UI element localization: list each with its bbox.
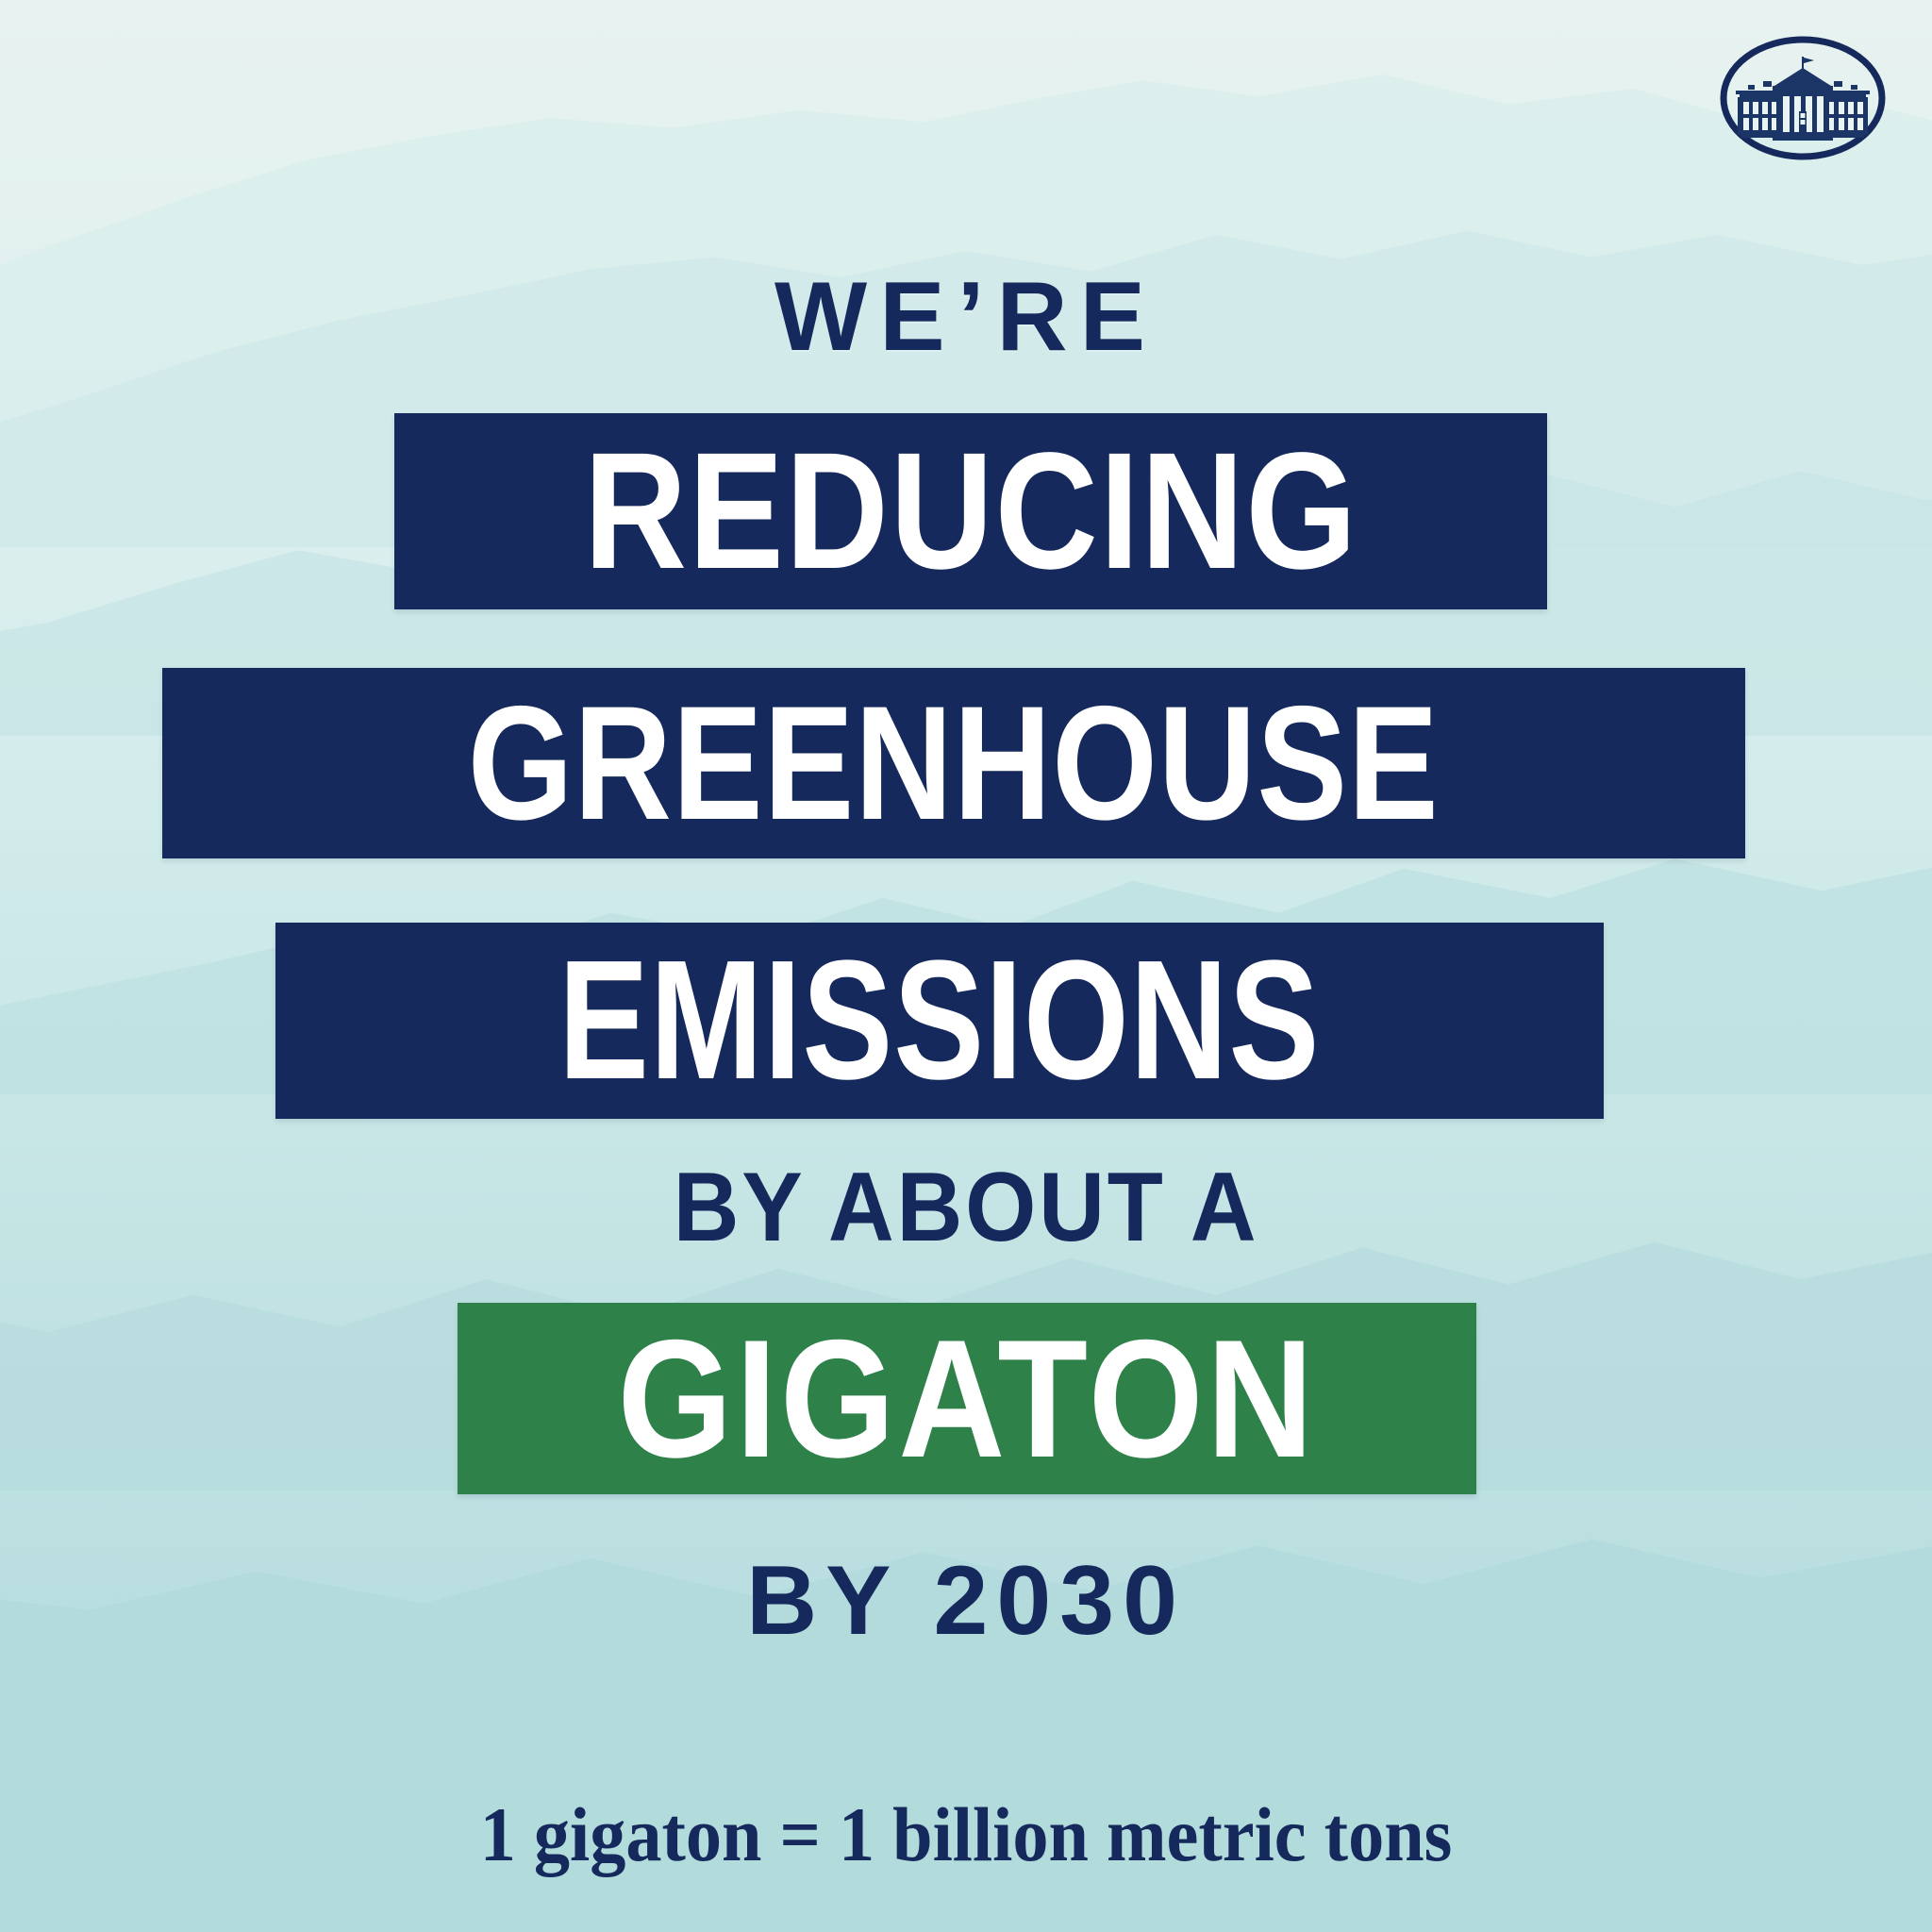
headline-block: WE’RE REDUCING GREENHOUSE EMISSIONS BY A… — [0, 0, 1932, 1932]
headline-line-by-about-a: BY ABOUT A — [68, 1158, 1865, 1257]
headline-box-greenhouse: GREENHOUSE — [162, 668, 1745, 858]
poster-canvas: WE’RE REDUCING GREENHOUSE EMISSIONS BY A… — [0, 0, 1932, 1932]
headline-box-reducing: REDUCING — [394, 413, 1547, 609]
headline-line-emissions: EMISSIONS — [558, 936, 1320, 1106]
headline-box-emissions: EMISSIONS — [275, 923, 1604, 1119]
headline-line-by-2030: BY 2030 — [0, 1552, 1932, 1650]
headline-line-greenhouse: GREENHOUSE — [468, 682, 1440, 844]
headline-line-gigaton: GIGATON — [617, 1315, 1316, 1483]
headline-line-reducing: REDUCING — [583, 428, 1357, 594]
headline-box-gigaton: GIGATON — [458, 1303, 1476, 1494]
headline-line-were: WE’RE — [0, 268, 1932, 366]
footnote-text: 1 gigaton = 1 billion metric tons — [68, 1790, 1865, 1879]
